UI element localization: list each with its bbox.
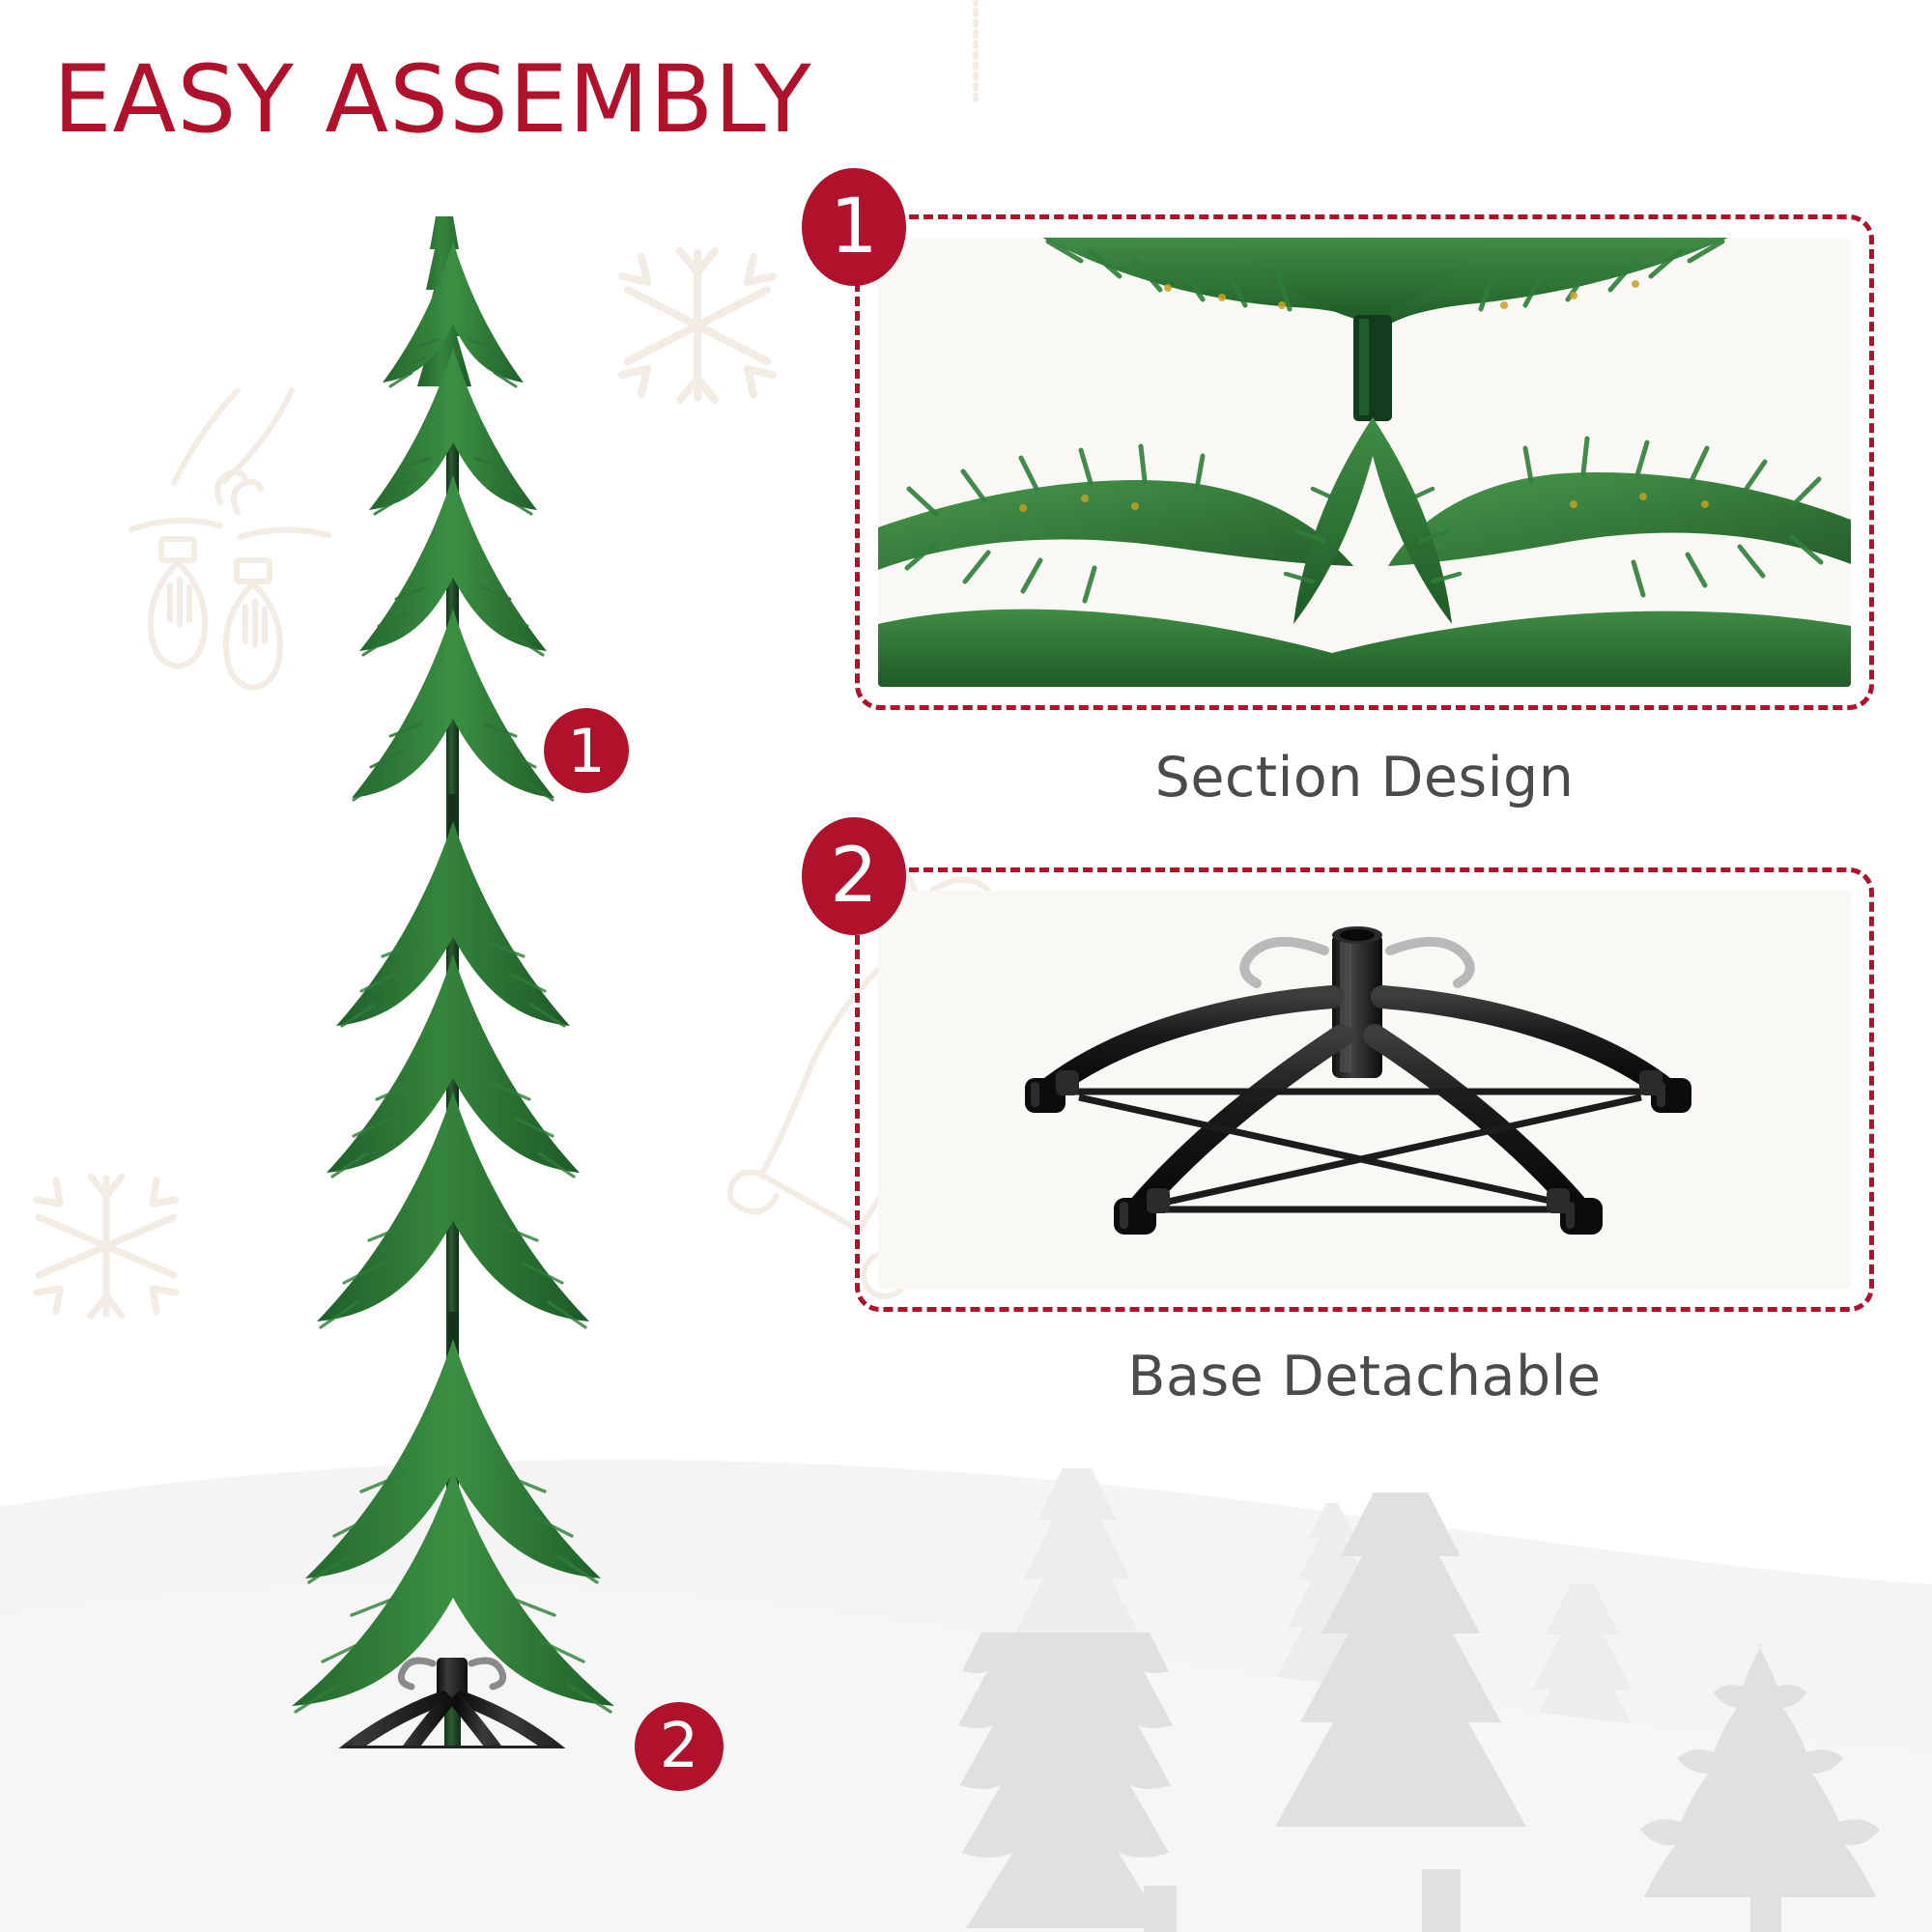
feature-panel-base-detachable[interactable]: 2 [855, 867, 1874, 1312]
hero-badge-one[interactable]: 1 [544, 708, 629, 793]
panel-badge-two[interactable]: 2 [802, 817, 906, 935]
poster-canvas: EASY ASSEMBLY [0, 0, 1932, 1932]
caption-base-detachable: Base Detachable [855, 1345, 1874, 1408]
hero-product-image [184, 203, 724, 1748]
photo-tree-section-joint [878, 238, 1851, 687]
panel-badge-one[interactable]: 1 [802, 168, 906, 286]
feature-panel-section-design[interactable]: 1 [855, 214, 1874, 710]
hero-badge-two[interactable]: 2 [635, 1702, 724, 1791]
photo-tree-stand [878, 891, 1851, 1289]
caption-section-design: Section Design [855, 746, 1874, 810]
page-title: EASY ASSEMBLY [53, 53, 812, 146]
snowflake-icon-left [37, 1177, 176, 1316]
